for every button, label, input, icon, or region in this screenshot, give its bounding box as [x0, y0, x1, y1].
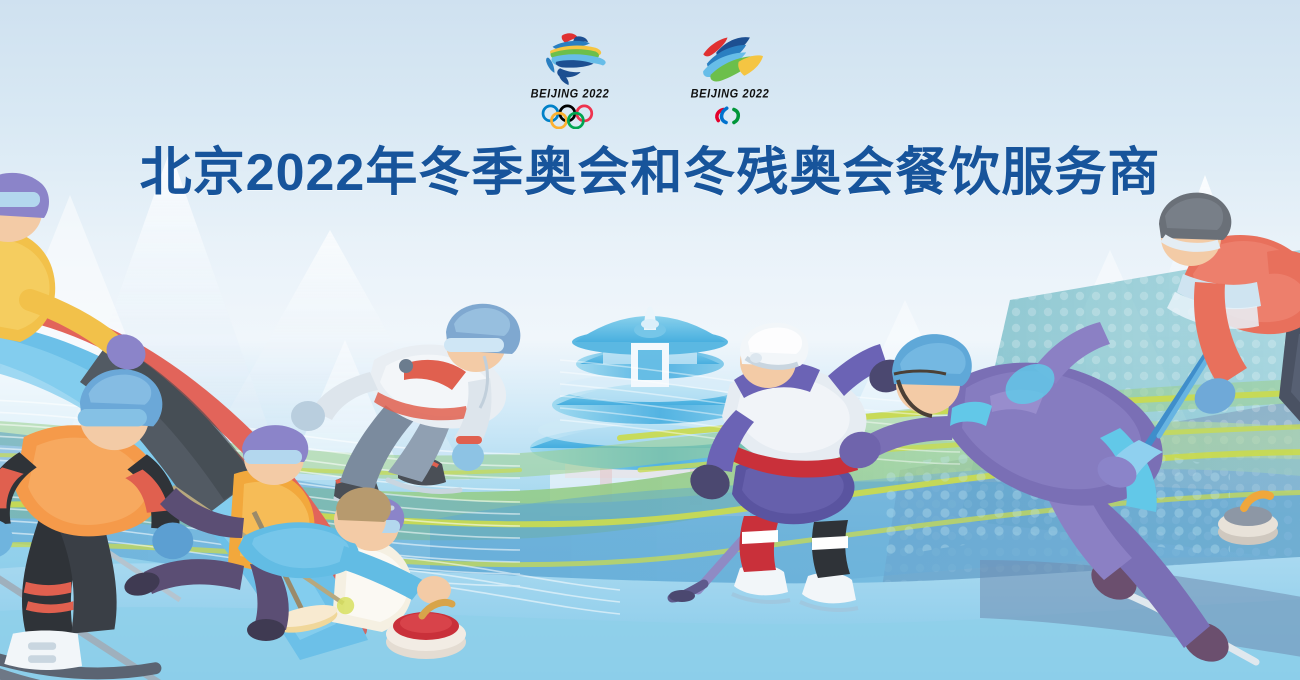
beijing-2022-catering-banner: BEIJING 2022 — [0, 0, 1300, 680]
paralympic-emblem-unit: BEIJING 2022 — [670, 30, 790, 129]
paralympic-wordmark: BEIJING 2022 — [691, 87, 770, 100]
olympic-emblem-unit: BEIJING 2022 — [510, 30, 630, 129]
beijing-2022-paralympic-emblem — [679, 30, 782, 86]
page-title: 北京2022年冬季奥会和冬残奥会餐饮服务商 — [0, 144, 1300, 202]
olympic-rings — [531, 103, 609, 129]
olympic-wordmark: BEIJING 2022 — [531, 87, 610, 100]
emblem-group: BEIJING 2022 — [0, 30, 1300, 129]
paralympic-agitos — [691, 103, 769, 129]
beijing-2022-olympic-emblem — [519, 30, 622, 86]
